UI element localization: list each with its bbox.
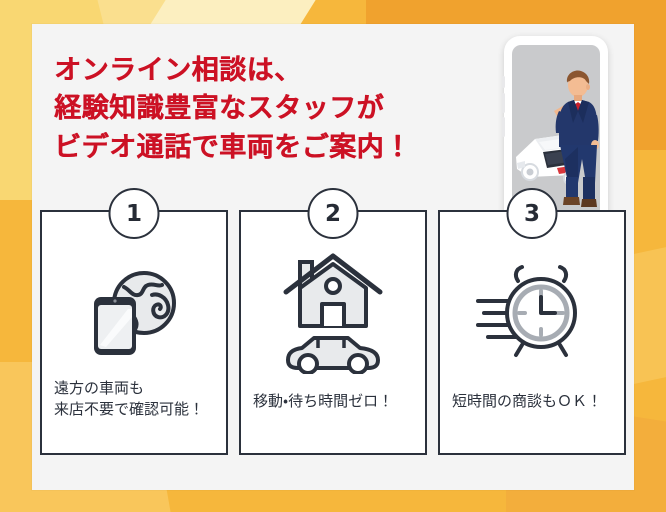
phone-button-mute <box>502 76 505 88</box>
smartphone-globe-icon <box>42 252 226 374</box>
feature-card-list: 1 遠方の車両も 来店不要で確認可能！ 2 <box>40 210 626 460</box>
page-title: オンライン相談は、 経験知識豊富なスタッフが ビデオ通話で車両をご案内！ <box>54 51 514 166</box>
phone-button-volume-down <box>502 117 505 137</box>
feature-card-2[interactable]: 2 移動・待ち時間 <box>239 210 427 455</box>
feature-card-3-text: 短時間の商談もＯＫ！ <box>452 391 614 413</box>
feature-card-3[interactable]: 3 <box>438 210 626 455</box>
house-car-icon <box>241 242 425 382</box>
promo-banner: オンライン相談は、 経験知識豊富なスタッフが ビデオ通話で車両をご案内！ <box>0 0 666 512</box>
alarm-clock-speed-icon <box>440 252 624 374</box>
card-number-badge: 2 <box>308 188 359 239</box>
feature-card-2-text: 移動・待ち時間ゼロ！ <box>253 391 415 413</box>
card-number-badge: 1 <box>109 188 160 239</box>
content-panel: オンライン相談は、 経験知識豊富なスタッフが ビデオ通話で車両をご案内！ <box>32 24 634 490</box>
phone-button-volume-up <box>502 93 505 113</box>
feature-card-1[interactable]: 1 遠方の車両も 来店不要で確認可能！ <box>40 210 228 455</box>
feature-card-1-text: 遠方の車両も 来店不要で確認可能！ <box>54 378 216 422</box>
card-number-badge: 3 <box>507 188 558 239</box>
person-illustration <box>552 67 600 209</box>
